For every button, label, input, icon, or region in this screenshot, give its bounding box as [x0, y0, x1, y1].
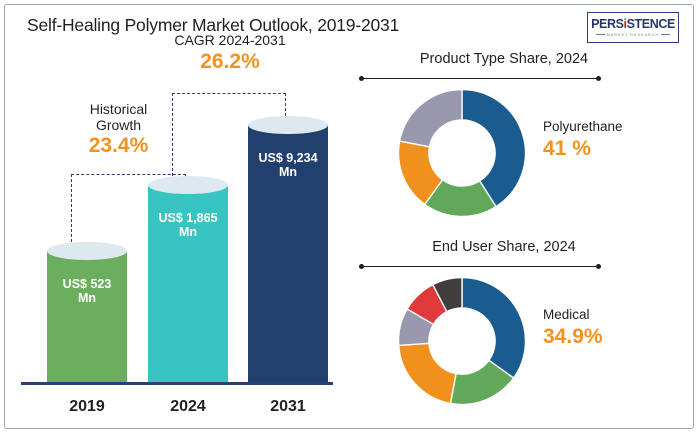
product-type-share-legend: Polyurethane 41 % — [543, 119, 693, 161]
donut-segment — [399, 343, 456, 403]
bar-2019-value-line1: US$ 523 — [47, 277, 127, 291]
bar-2031-value-line2: Mn — [248, 165, 328, 179]
product-type-share-legend-value: 41 % — [543, 136, 693, 161]
bar-2031: US$ 9,234 Mn — [248, 125, 328, 383]
product-type-share-donut — [393, 84, 531, 222]
x-axis-label-2019: 2019 — [47, 398, 127, 416]
bar-2019: US$ 523 Mn — [47, 251, 127, 383]
x-axis-line — [21, 382, 333, 385]
product-type-share-legend-name: Polyurethane — [543, 119, 693, 135]
bar-2024-value: US$ 1,865 Mn — [148, 211, 228, 240]
bar-2024-value-line2: Mn — [148, 225, 228, 239]
logo-text-a: PERS — [591, 17, 623, 31]
cagr-annotation: CAGR 2024-2031 26.2% — [145, 33, 315, 74]
donut-charts-panel: Product Type Share, 2024 Polyurethane 41… — [345, 49, 693, 430]
infographic-frame: Self-Healing Polymer Market Outlook, 201… — [4, 4, 694, 429]
logo-wordmark: PERSiSTENCE — [591, 18, 675, 31]
bar-2024: US$ 1,865 Mn — [148, 185, 228, 383]
product-type-share-title: Product Type Share, 2024 — [359, 51, 649, 67]
bar-2019-cap — [47, 242, 127, 260]
bar-chart: Historical Growth 23.4% CAGR 2024-2031 2… — [5, 49, 345, 430]
end-user-share-rule — [361, 266, 599, 267]
end-user-share-chart: End User Share, 2024 Medical 34.9% — [345, 239, 693, 422]
end-user-share-legend: Medical 34.9% — [543, 307, 693, 349]
bar-2031-value-line1: US$ 9,234 — [248, 151, 328, 165]
end-user-share-title: End User Share, 2024 — [359, 239, 649, 255]
persistence-market-research-logo: PERSiSTENCE MARKET RESEARCH — [587, 12, 679, 43]
logo-text-b: STENCE — [627, 17, 675, 31]
product-type-share-rule — [361, 78, 599, 79]
logo-subtitle: MARKET RESEARCH — [607, 33, 659, 37]
bar-2031-value: US$ 9,234 Mn — [248, 151, 328, 180]
cagr-label: CAGR 2024-2031 — [145, 33, 315, 49]
header: Self-Healing Polymer Market Outlook, 201… — [5, 5, 693, 49]
logo-rule-left — [596, 34, 605, 35]
cagr-value: 26.2% — [145, 50, 315, 74]
bar-2019-value: US$ 523 Mn — [47, 277, 127, 306]
historical-growth-value: 23.4% — [51, 134, 186, 158]
historical-growth-annotation: Historical Growth 23.4% — [51, 102, 186, 158]
product-type-share-chart: Product Type Share, 2024 Polyurethane 41… — [345, 51, 693, 234]
bar-2019-value-line2: Mn — [47, 291, 127, 305]
donut-segment — [400, 90, 462, 147]
historical-growth-label-line2: Growth — [51, 118, 186, 134]
logo-subtitle-wrap: MARKET RESEARCH — [596, 33, 670, 37]
bar-2024-cap — [148, 176, 228, 194]
historical-growth-label-line1: Historical — [51, 102, 186, 118]
logo-rule-right — [661, 34, 670, 35]
end-user-share-legend-value: 34.9% — [543, 324, 693, 349]
end-user-share-donut — [393, 272, 531, 410]
x-axis-label-2031: 2031 — [248, 398, 328, 416]
bar-2024-value-line1: US$ 1,865 — [148, 211, 228, 225]
x-axis-label-2024: 2024 — [148, 398, 228, 416]
bar-2031-cap — [248, 116, 328, 134]
end-user-share-legend-name: Medical — [543, 307, 693, 323]
